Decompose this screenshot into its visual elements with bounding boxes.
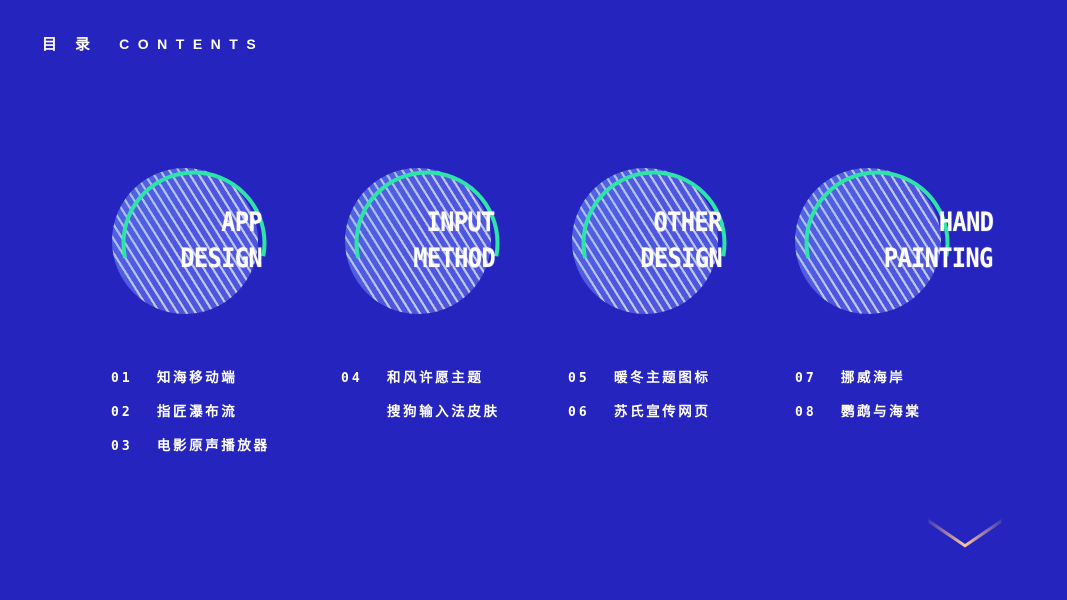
page-title-en: CONTENTS <box>119 36 264 52</box>
section-circle-3[interactable]: OTHER DESIGN <box>572 168 722 318</box>
contents-column-1: 01 知海移动端 02 指匠瀑布流 03 电影原声播放器 <box>111 366 270 468</box>
list-item-label: 挪威海岸 <box>841 366 905 386</box>
list-item-number: 08 <box>795 405 835 420</box>
contents-column-2: 04 和风许愿主题 搜狗输入法皮肤 <box>341 366 500 434</box>
list-item[interactable]: 07 挪威海岸 <box>795 366 922 400</box>
list-item[interactable]: 搜狗输入法皮肤 <box>341 400 500 434</box>
arc-outline-3 <box>581 170 727 316</box>
list-item-label: 暖冬主题图标 <box>614 366 711 386</box>
list-item[interactable]: 03 电影原声播放器 <box>111 434 270 468</box>
page-header: 目 录 CONTENTS <box>42 33 264 54</box>
list-item-number: 04 <box>341 371 381 386</box>
list-item-number: 07 <box>795 371 835 386</box>
list-item-label: 知海移动端 <box>157 366 238 386</box>
list-item-label: 和风许愿主题 <box>387 366 484 386</box>
arc-outline-1 <box>121 170 267 316</box>
list-item-number: 05 <box>568 371 608 386</box>
list-item-number: 01 <box>111 371 151 386</box>
arc-outline-2 <box>354 170 500 316</box>
contents-column-4: 07 挪威海岸 08 鹦鹉与海棠 <box>795 366 922 434</box>
list-item-number: 03 <box>111 439 151 454</box>
list-item[interactable]: 02 指匠瀑布流 <box>111 400 270 434</box>
list-item-label: 鹦鹉与海棠 <box>841 400 922 420</box>
list-item[interactable]: 01 知海移动端 <box>111 366 270 400</box>
section-circle-row: APP DESIGN INPUT METHOD OTHER DESIGN HAN… <box>0 168 1067 318</box>
chevron-down-icon <box>928 518 1002 548</box>
list-item-label: 搜狗输入法皮肤 <box>387 400 500 420</box>
page-title-cn: 目 录 <box>42 33 97 54</box>
list-item-number: 02 <box>111 405 151 420</box>
contents-column-3: 05 暖冬主题图标 06 苏氏宣传网页 <box>568 366 711 434</box>
list-item-label: 指匠瀑布流 <box>157 400 238 420</box>
list-item[interactable]: 04 和风许愿主题 <box>341 366 500 400</box>
section-circle-2[interactable]: INPUT METHOD <box>345 168 495 318</box>
section-circle-1[interactable]: APP DESIGN <box>112 168 262 318</box>
list-item[interactable]: 05 暖冬主题图标 <box>568 366 711 400</box>
list-item-label: 苏氏宣传网页 <box>614 400 711 420</box>
section-circle-4[interactable]: HAND PAINTING <box>795 168 945 318</box>
list-item-number: 06 <box>568 405 608 420</box>
list-item[interactable]: 08 鹦鹉与海棠 <box>795 400 922 434</box>
list-item[interactable]: 06 苏氏宣传网页 <box>568 400 711 434</box>
list-item-label: 电影原声播放器 <box>157 434 270 454</box>
arc-outline-4 <box>804 170 950 316</box>
